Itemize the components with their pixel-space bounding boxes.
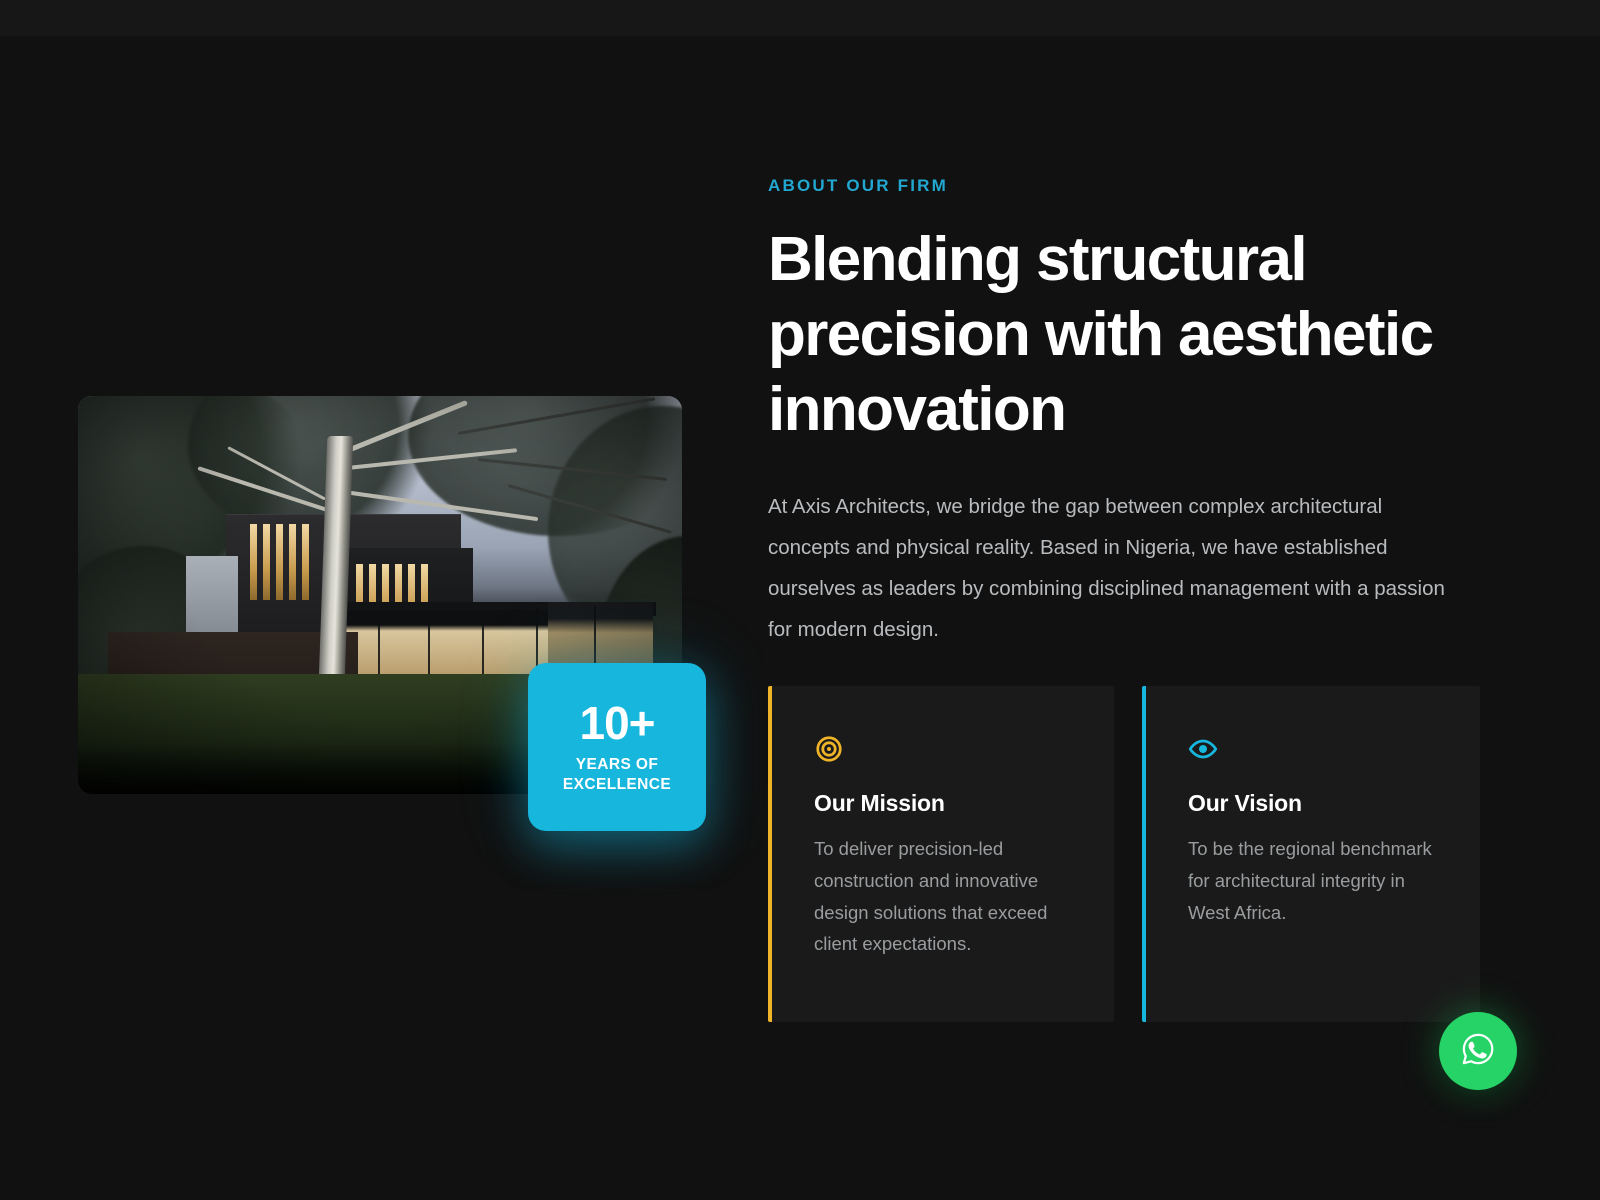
card-title-vision: Our Vision bbox=[1188, 790, 1446, 817]
card-title-mission: Our Mission bbox=[814, 790, 1080, 817]
years-badge-caption: YEARS OF EXCELLENCE bbox=[528, 755, 706, 794]
section-eyebrow: ABOUT OUR FIRM bbox=[768, 176, 948, 196]
card-vision[interactable]: Our Vision To be the regional benchmark … bbox=[1142, 686, 1480, 1022]
years-badge: 10+ YEARS OF EXCELLENCE bbox=[528, 663, 706, 831]
top-band bbox=[0, 0, 1600, 36]
section-description: At Axis Architects, we bridge the gap be… bbox=[768, 486, 1468, 650]
eye-icon bbox=[1188, 734, 1446, 764]
about-section: 10+ YEARS OF EXCELLENCE ABOUT OUR FIRM B… bbox=[0, 0, 1600, 1200]
target-icon bbox=[814, 734, 1080, 764]
mission-vision-cards: Our Mission To deliver precision-led con… bbox=[768, 686, 1480, 1022]
whatsapp-icon bbox=[1457, 1028, 1499, 1075]
card-text-vision: To be the regional benchmark for archite… bbox=[1188, 833, 1446, 928]
years-badge-number: 10+ bbox=[579, 700, 654, 746]
card-mission[interactable]: Our Mission To deliver precision-led con… bbox=[768, 686, 1114, 1022]
whatsapp-button[interactable] bbox=[1439, 1012, 1517, 1090]
page-title: Blending structural precision with aesth… bbox=[768, 222, 1468, 447]
card-text-mission: To deliver precision-led construction an… bbox=[814, 833, 1080, 960]
